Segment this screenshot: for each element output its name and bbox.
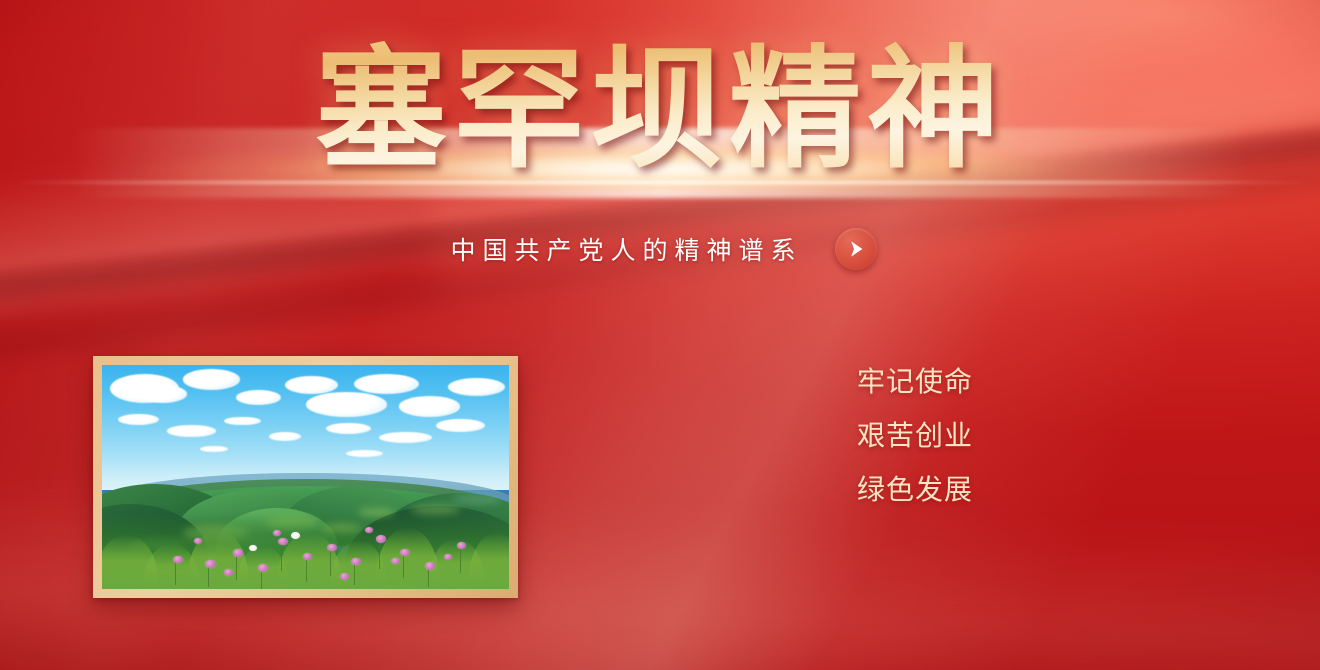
wildflower bbox=[205, 560, 216, 568]
wildflower bbox=[391, 558, 400, 564]
wildflower bbox=[376, 535, 386, 543]
clearing bbox=[452, 495, 501, 504]
cloud bbox=[346, 450, 383, 457]
wildflower bbox=[258, 564, 268, 572]
wildflower bbox=[194, 538, 202, 544]
cloud bbox=[285, 376, 338, 394]
wildflower bbox=[233, 549, 242, 556]
flower-stem bbox=[306, 560, 307, 582]
flower-stem bbox=[236, 555, 237, 580]
wildflower bbox=[278, 538, 287, 545]
page-title-text: 塞罕坝精神 bbox=[315, 40, 1005, 180]
cloud bbox=[183, 369, 240, 389]
photo-frame[interactable] bbox=[93, 356, 518, 598]
wildflower bbox=[365, 527, 373, 533]
slogan-item: 牢记使命 bbox=[857, 368, 973, 396]
wildflower bbox=[400, 549, 409, 556]
flower-stem bbox=[403, 555, 404, 577]
subtitle-row: 中国共产党人的精神谱系 bbox=[0, 228, 1320, 270]
flower-stem bbox=[428, 569, 429, 587]
wildflower bbox=[351, 558, 360, 565]
cloud bbox=[167, 425, 216, 436]
cloud bbox=[436, 419, 485, 432]
flower-stem bbox=[208, 567, 209, 587]
flower-stem bbox=[261, 571, 262, 589]
flower-stem bbox=[330, 551, 331, 576]
wildflower-white bbox=[291, 532, 300, 539]
wildflower bbox=[224, 569, 233, 576]
cloud bbox=[306, 392, 387, 417]
slogan-item: 艰苦创业 bbox=[857, 422, 973, 450]
flower-stem bbox=[379, 542, 380, 569]
subtitle-text: 中国共产党人的精神谱系 bbox=[443, 231, 802, 267]
cloud bbox=[399, 396, 460, 416]
flower-stem bbox=[175, 562, 176, 584]
wildflower bbox=[444, 554, 452, 560]
page-title: 塞罕坝精神 bbox=[0, 40, 1320, 180]
poster-root: 塞罕坝精神 中国共产党人的精神谱系 bbox=[0, 0, 1320, 670]
wildflower-white bbox=[249, 545, 257, 551]
wildflower bbox=[425, 562, 435, 569]
next-button[interactable] bbox=[835, 228, 877, 270]
wildflower bbox=[173, 556, 183, 564]
flower-stem bbox=[281, 544, 282, 571]
slogan-item: 绿色发展 bbox=[857, 476, 973, 504]
chevron-right-icon bbox=[845, 238, 867, 260]
slogan-list: 牢记使命 艰苦创业 绿色发展 bbox=[857, 368, 973, 504]
landscape-photo bbox=[102, 365, 509, 589]
flower-stem bbox=[460, 549, 461, 574]
flower-stem bbox=[354, 564, 355, 584]
